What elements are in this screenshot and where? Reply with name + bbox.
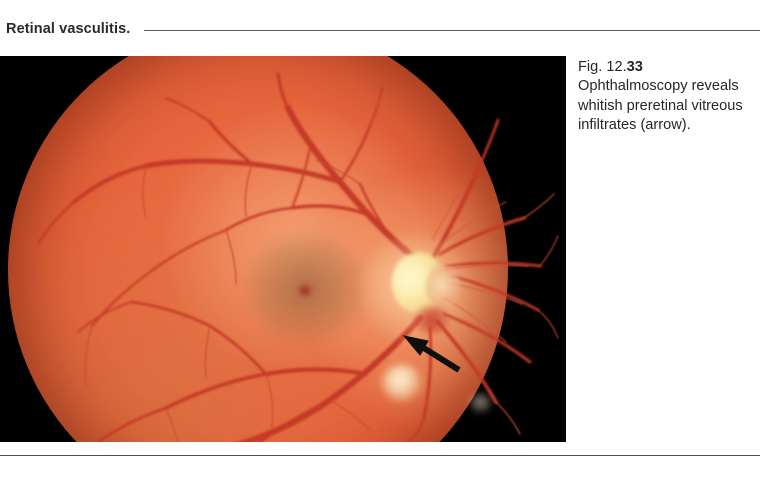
page-root: Retinal vasculitis. <box>0 0 760 478</box>
preretinal-infiltrate-main <box>382 364 422 402</box>
fundus-image <box>0 56 566 442</box>
caption-figure-number: 33 <box>627 59 643 75</box>
page-title: Retinal vasculitis. <box>0 21 130 37</box>
fovea <box>297 284 313 297</box>
header-rule <box>144 30 760 31</box>
section-header: Retinal vasculitis. <box>0 12 760 46</box>
disc-hemorrhage <box>414 306 450 334</box>
figure-caption: Fig. 12.33 Ophthalmoscopy reveals whitis… <box>578 58 754 136</box>
optic-cup <box>426 264 460 310</box>
footer-rule <box>0 455 760 456</box>
preretinal-infiltrate-edge <box>470 394 492 412</box>
caption-figure-label: Fig. 12. <box>578 59 627 75</box>
figure-fundus-photograph <box>0 56 566 442</box>
caption-text: Ophthalmoscopy reveals whitish preretina… <box>578 78 743 133</box>
